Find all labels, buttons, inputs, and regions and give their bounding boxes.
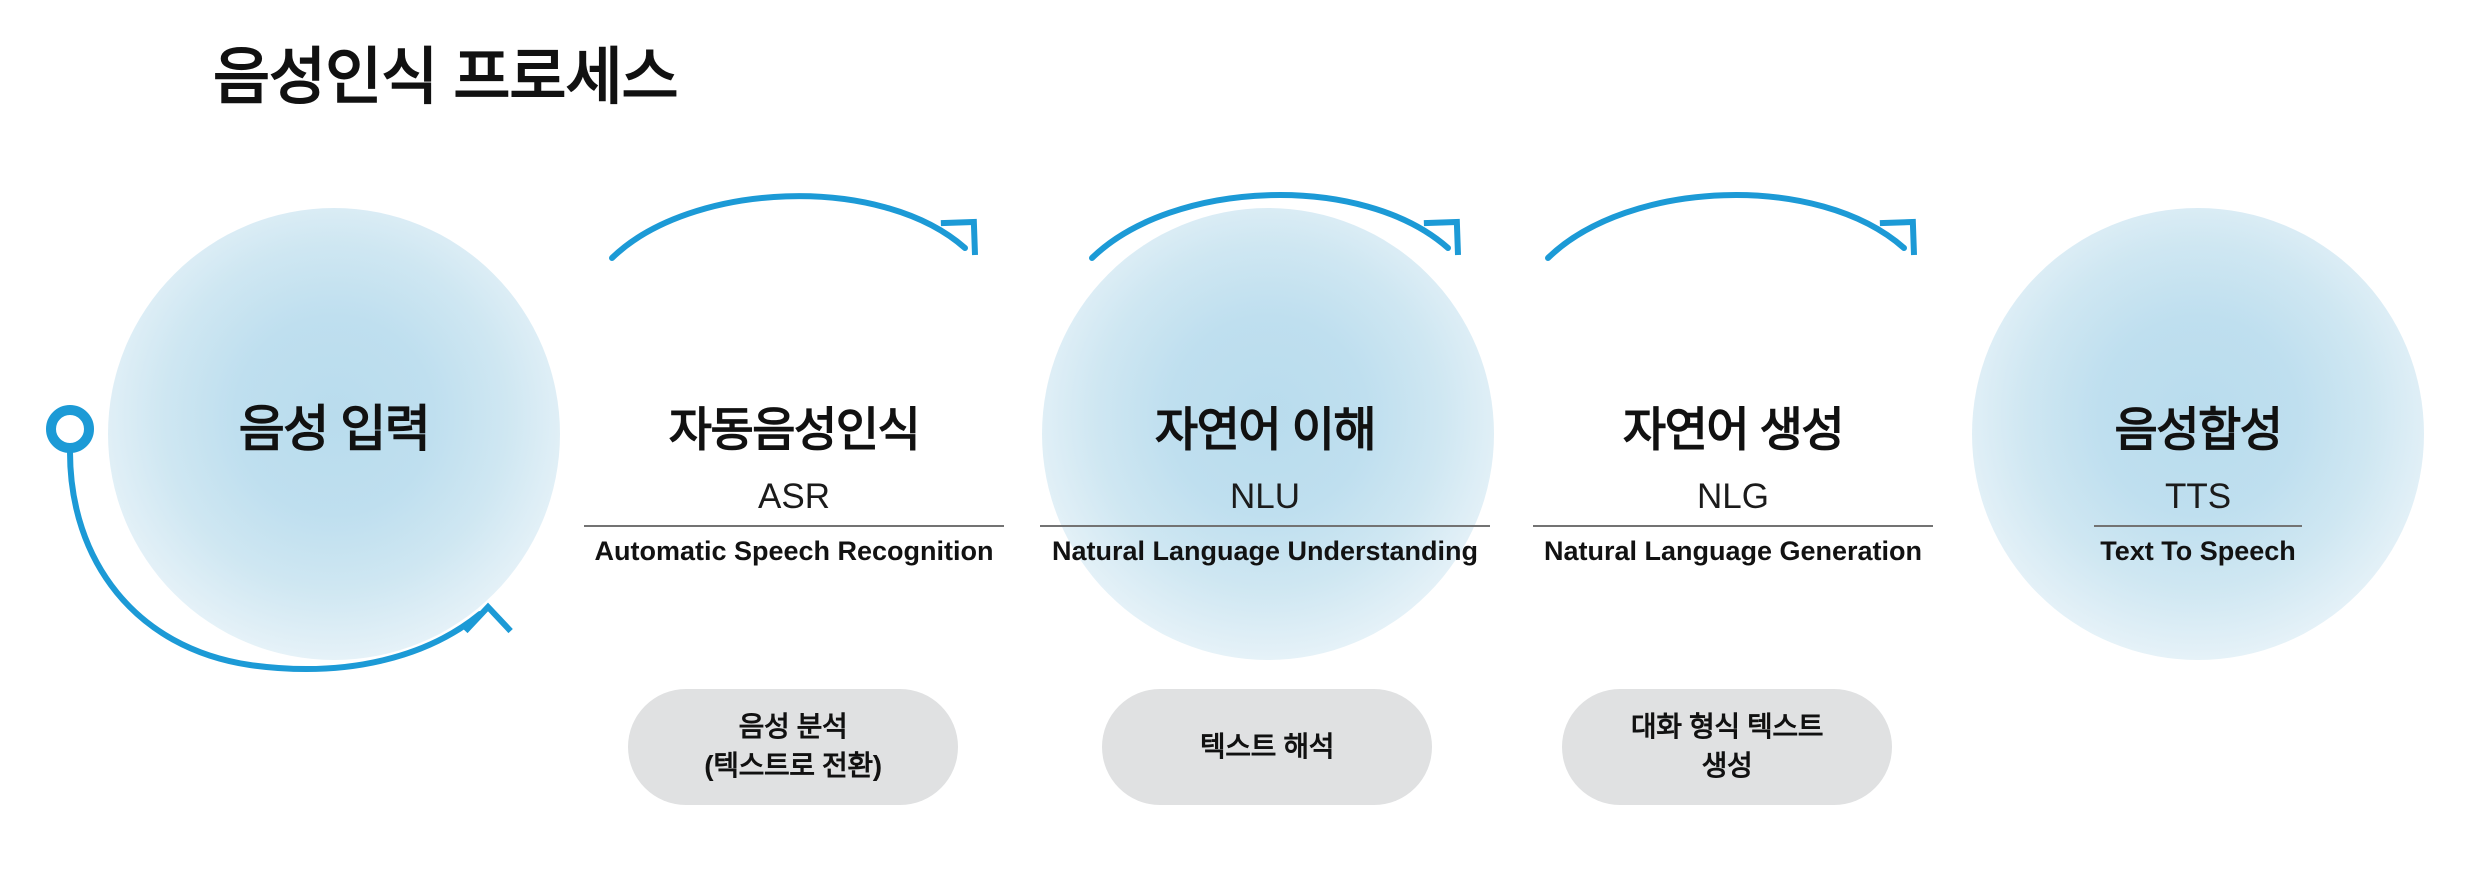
chip-asr-line2: (텍스트로 전환) <box>704 747 881 786</box>
chip-nlg-line1: 대화 형식 텍스트 <box>1631 708 1823 747</box>
arrow-asr-to-nlu <box>612 196 975 258</box>
chip-nlu[interactable]: 텍스트 해석 <box>1102 689 1432 805</box>
node-text-voice-input: 음성 입력 <box>114 402 554 457</box>
arrow-input-to-asr <box>70 452 511 669</box>
node-acronym-tts: TTS <box>1973 478 2423 517</box>
node-english-nlu: Natural Language Understanding <box>1040 535 1490 567</box>
node-title-voice-input: 음성 입력 <box>114 402 554 457</box>
arrow-nlu-to-nlg <box>1092 195 1458 258</box>
node-title-nlg: 자연어 생성 <box>1508 404 1958 456</box>
node-text-asr: 자동음성인식 ASR Automatic Speech Recognition <box>569 404 1019 568</box>
chip-asr[interactable]: 음성 분석 (텍스트로 전환) <box>628 689 958 805</box>
chip-nlg[interactable]: 대화 형식 텍스트 생성 <box>1562 689 1892 805</box>
node-divider-tts <box>2094 525 2302 527</box>
node-text-tts: 음성합성 TTS Text To Speech <box>1973 404 2423 568</box>
node-acronym-asr: ASR <box>569 478 1019 517</box>
node-acronym-nlu: NLU <box>1040 478 1490 517</box>
arrow-nlg-to-tts <box>1548 195 1914 258</box>
node-english-nlg: Natural Language Generation <box>1508 535 1958 567</box>
page-title: 음성인식 프로세스 <box>213 26 678 116</box>
node-divider-nlu <box>1040 525 1490 527</box>
slide-canvas: 음성인식 프로세스 음성 입력 <box>0 0 2480 870</box>
node-text-nlg: 자연어 생성 NLG Natural Language Generation <box>1508 404 1958 568</box>
node-divider-nlg <box>1533 525 1933 527</box>
node-title-tts: 음성합성 <box>1973 404 2423 456</box>
node-title-nlu: 자연어 이해 <box>1040 404 1490 456</box>
node-text-nlu: 자연어 이해 NLU Natural Language Understandin… <box>1040 404 1490 568</box>
node-english-asr: Automatic Speech Recognition <box>569 535 1019 567</box>
chip-nlg-line2: 생성 <box>1631 747 1823 786</box>
node-divider-asr <box>584 525 1004 527</box>
node-acronym-nlg: NLG <box>1508 478 1958 517</box>
node-english-tts: Text To Speech <box>1973 535 2423 567</box>
node-title-asr: 자동음성인식 <box>569 404 1019 456</box>
start-ring-marker <box>51 410 89 448</box>
chip-nlu-line1: 텍스트 해석 <box>1200 728 1334 767</box>
chip-asr-line1: 음성 분석 <box>704 708 881 747</box>
